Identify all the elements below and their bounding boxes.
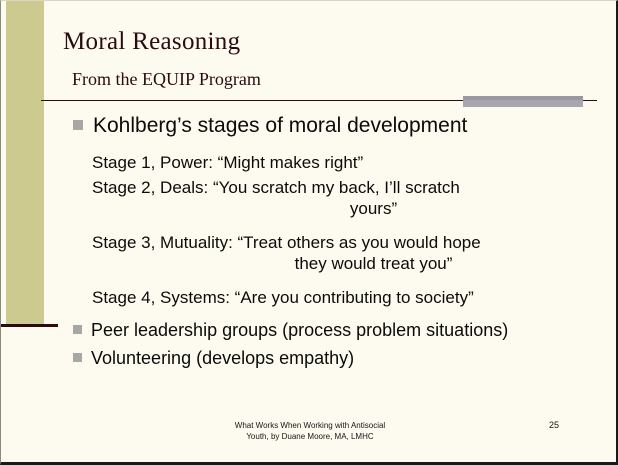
header-gray-accent-block-top <box>463 96 583 100</box>
stage-item-1: Stage 1, Power: “Might makes right” <box>92 152 595 173</box>
bullet-item-kohlberg: Kohlberg’s stages of moral development <box>1 113 618 139</box>
stage-4-line-1: Stage 4, Systems: “Are you contributing … <box>92 288 474 307</box>
page-number: 25 <box>549 420 559 430</box>
slide-title: Moral Reasoning <box>63 28 240 56</box>
bullet-item-volunteering: Volunteering (develops empathy) <box>1 347 618 370</box>
bullet-label-peer-leadership: Peer leadership groups (process problem … <box>91 319 508 342</box>
stage-3-line-1: Stage 3, Mutuality: “Treat others as you… <box>92 233 481 252</box>
presentation-slide: Moral Reasoning From the EQUIP Program K… <box>0 0 618 465</box>
slide-subtitle: From the EQUIP Program <box>72 69 261 90</box>
square-bullet-icon <box>73 353 82 362</box>
bullet-item-peer-leadership: Peer leadership groups (process problem … <box>1 319 618 342</box>
bullet-label-volunteering: Volunteering (develops empathy) <box>91 347 354 370</box>
stage-item-4: Stage 4, Systems: “Are you contributing … <box>92 287 595 308</box>
stage-item-2: Stage 2, Deals: “You scratch my back, I’… <box>92 177 595 219</box>
stage-3-line-2: they would treat you” <box>92 253 595 274</box>
stage-2-line-2: yours” <box>92 198 595 219</box>
square-bullet-icon <box>73 325 82 334</box>
footer-line-2: Youth, by Duane Moore, MA, LMHC <box>1 431 618 442</box>
square-bullet-icon <box>73 120 83 130</box>
slide-header: Moral Reasoning From the EQUIP Program <box>1 1 618 101</box>
footer-line-1: What Works When Working with Antisocial <box>1 420 618 431</box>
stage-item-3: Stage 3, Mutuality: “Treat others as you… <box>92 232 595 274</box>
stage-1-line-1: Stage 1, Power: “Might makes right” <box>92 153 363 172</box>
slide-footer: What Works When Working with Antisocial … <box>1 420 618 442</box>
bullet-label-kohlberg: Kohlberg’s stages of moral development <box>93 113 467 139</box>
slide-body: Kohlberg’s stages of moral development S… <box>1 101 618 370</box>
stage-2-line-1: Stage 2, Deals: “You scratch my back, I’… <box>92 178 460 197</box>
